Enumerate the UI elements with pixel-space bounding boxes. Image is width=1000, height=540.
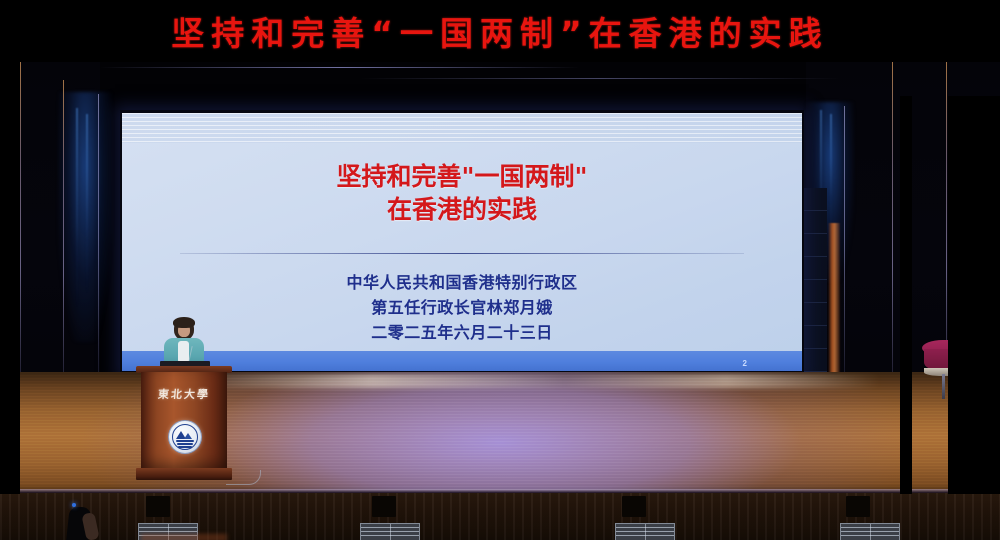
camera-operator-silhouette xyxy=(60,495,100,540)
stage-masking-panel-right-inner xyxy=(900,96,912,494)
apron-vent-3 xyxy=(615,523,675,540)
podium-floor-reflection xyxy=(141,534,227,540)
panel-seam-5 xyxy=(892,62,893,378)
slide-page-number: 2 xyxy=(743,359,747,368)
panel-seam-2 xyxy=(63,80,64,380)
screen-scanlines xyxy=(122,113,802,143)
emblem-wave-3 xyxy=(178,446,192,448)
podium-body: 東北大學 xyxy=(141,372,227,470)
slide-title-line-2: 在香港的实践 xyxy=(122,194,802,227)
emblem-mountain-secondary-icon xyxy=(184,433,192,439)
ceiling-soffit-1 xyxy=(100,67,580,68)
curtain-streak-left-1 xyxy=(76,108,78,308)
university-emblem-icon xyxy=(168,420,202,454)
emblem-wave-2 xyxy=(177,443,193,445)
operator-device-led xyxy=(72,503,76,507)
panel-seam-4 xyxy=(844,106,845,380)
apron-recess-4 xyxy=(846,496,870,517)
emblem-wave-1 xyxy=(176,440,194,442)
apron-recess-3 xyxy=(622,496,646,517)
apron-vent-4 xyxy=(840,523,900,540)
ceiling-soffit-2 xyxy=(360,78,840,79)
headline-banner: 坚持和完善“一国两制”在香港的实践 xyxy=(0,0,1000,62)
stool-leg xyxy=(942,374,945,399)
stage-masking-panel-left xyxy=(0,58,20,494)
panel-seam-6 xyxy=(946,62,947,378)
slide-divider-rule xyxy=(180,253,744,254)
stage-apron xyxy=(0,493,1000,540)
slide-title-line-1: 坚持和完善"一国两制" xyxy=(122,161,802,194)
curtain-streak-left-2 xyxy=(86,114,88,294)
podium-base xyxy=(136,468,232,480)
presenter-hair xyxy=(173,317,195,328)
podium-institution-name: 東北大學 xyxy=(140,386,227,402)
podium: 東北大學 xyxy=(138,366,230,484)
apron-recess-2 xyxy=(372,496,396,517)
apron-recess-1 xyxy=(146,496,170,517)
podium-cable xyxy=(226,470,261,485)
curtain-glow-left xyxy=(58,92,112,342)
slide-title: 坚持和完善"一国两制" 在香港的实践 xyxy=(122,161,802,226)
speaker-stack-right xyxy=(800,188,827,388)
stage-masking-panel-right xyxy=(948,96,1000,494)
curtain-streak-right-2 xyxy=(830,114,832,234)
apron-vent-2 xyxy=(360,523,420,540)
slide-subtitle-line-1: 中华人民共和国香港特别行政区 xyxy=(122,271,802,296)
auditorium-photo: 坚持和完善"一国两制" 在香港的实践 中华人民共和国香港特别行政区 第五任行政长… xyxy=(0,0,1000,540)
headline-banner-text: 坚持和完善“一国两制”在香港的实践 xyxy=(171,7,828,55)
presenter-inner-top xyxy=(178,341,189,363)
panel-seam-1 xyxy=(20,62,21,378)
podium-assembly: 東北大學 xyxy=(138,316,230,496)
panel-seam-3 xyxy=(98,94,99,380)
